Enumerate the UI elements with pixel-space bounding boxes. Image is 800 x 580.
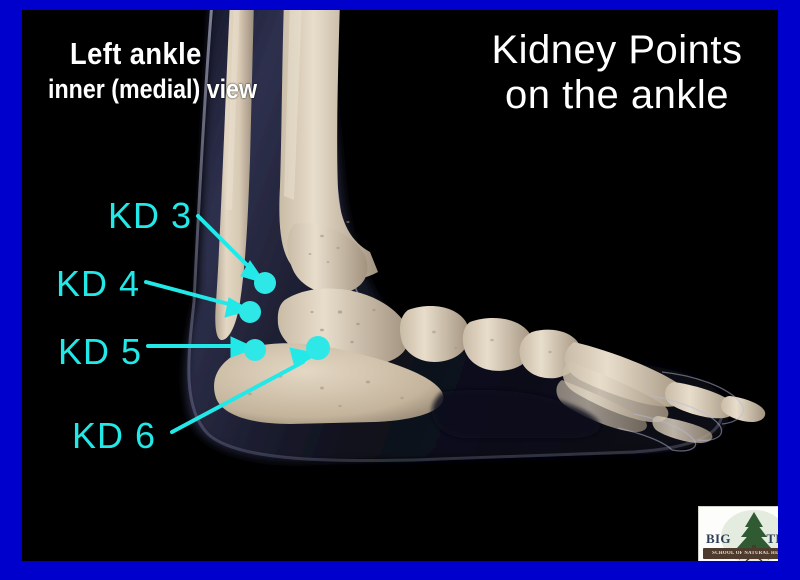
kd6-label: KD 6	[72, 418, 156, 454]
kd4-dot	[239, 301, 261, 323]
page-title-line2: on the ankle	[452, 73, 778, 118]
kd6-dot	[306, 336, 330, 360]
view-title-line1: Left ankle	[70, 38, 202, 69]
kd3-label: KD 3	[108, 198, 192, 234]
kd4-label: KD 4	[56, 266, 140, 302]
poster-canvas: Left ankle inner (medial) view Kidney Po…	[22, 10, 778, 561]
page-title: Kidney Points on the ankle	[452, 28, 778, 118]
logo-word-tree: TREE	[766, 532, 778, 545]
poster-frame: Left ankle inner (medial) view Kidney Po…	[0, 0, 800, 580]
logo-tagline: SCHOOL OF NATURAL HEALING	[706, 548, 778, 559]
kd5-label: KD 5	[58, 334, 142, 370]
view-title-line2: inner (medial) view	[48, 76, 257, 103]
tibia-bone	[279, 10, 378, 294]
big-tree-logo: BIG TREE SCHOOL OF NATURAL HEALING	[698, 506, 778, 561]
logo-banner: SCHOOL OF NATURAL HEALING	[703, 548, 778, 559]
kd3-dot	[254, 272, 276, 294]
page-title-line1: Kidney Points	[491, 28, 742, 72]
logo-word-big: BIG	[706, 532, 731, 545]
kd5-dot	[244, 339, 266, 361]
